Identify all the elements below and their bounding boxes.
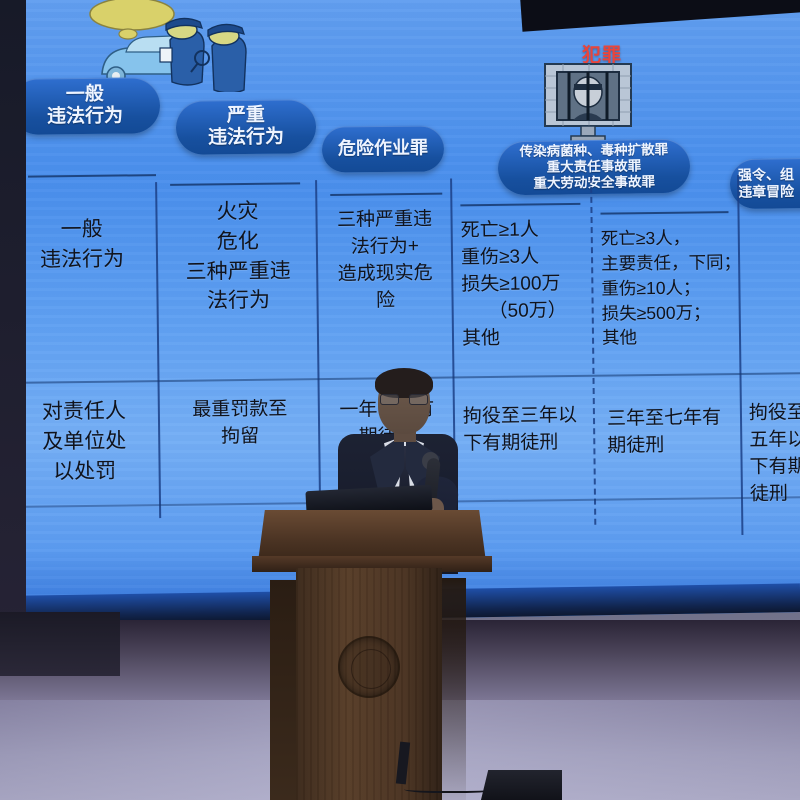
conference-photo: 犯罪 一般 违法行为 严重 违法行为 xyxy=(0,0,800,800)
prisoner-behind-bars-illustration xyxy=(543,62,633,144)
cell-line: 主要责任，下同； xyxy=(601,250,741,277)
table-cell-r2c2: 最重罚款至 拘留 xyxy=(165,396,316,452)
cell-line: 造成现实危 xyxy=(321,260,449,289)
cell-line: 危化 xyxy=(163,226,313,258)
table-rule xyxy=(170,182,300,186)
table-cell-r1c2: 火灾 危化 三种严重违 法行为 xyxy=(162,196,313,317)
cell-line: 三种严重违 xyxy=(320,207,448,236)
table-cell-r1c4: 死亡≥1人 重伤≥3人 损失≥100万 （50万） 其他 xyxy=(461,217,595,353)
pill-line: 严重 xyxy=(227,104,265,127)
podium-right-side xyxy=(440,578,466,800)
cell-line: 对责任人 xyxy=(11,396,157,428)
table-rule xyxy=(600,211,728,215)
pill-line: 违法行为 xyxy=(208,127,284,150)
table-cell-r1c5: 死亡≥3人， 主要责任，下同； 重伤≥10人； 损失≥500万； 其他 xyxy=(601,225,743,351)
pill-dangerous-operation-crime[interactable]: 危险作业罪 xyxy=(322,125,444,172)
cell-line: 一般 xyxy=(8,214,154,246)
left-wall xyxy=(0,0,26,640)
audio-cable xyxy=(404,784,496,793)
cell-line: 法行为 xyxy=(163,286,313,318)
cell-line: （50万） xyxy=(462,298,594,327)
pill-line: 传染病菌种、毒种扩散罪 xyxy=(519,142,668,160)
cell-line: 重伤≥3人 xyxy=(461,244,593,273)
pill-general-illegal-act[interactable]: 一般 违法行为 xyxy=(10,77,161,135)
cell-line: 最重罚款至 xyxy=(165,396,315,425)
cell-line: 期徒刑 xyxy=(607,432,743,461)
cell-line: 损失≥500万； xyxy=(602,299,742,326)
pill-line: 一般 xyxy=(66,83,104,106)
pill-line: 危险作业罪 xyxy=(338,138,428,160)
floor-monitor-speaker xyxy=(480,770,562,800)
cell-line: 死亡≥3人， xyxy=(601,225,741,252)
pill-serious-illegal-act[interactable]: 严重 违法行为 xyxy=(176,99,317,154)
table-cell-r2c4: 拘役至三年以 下有期徒刑 xyxy=(463,403,596,459)
eyeglasses-icon xyxy=(380,394,428,406)
cell-line: 违法行为 xyxy=(9,244,155,276)
cell-line: 其他 xyxy=(462,325,594,354)
cell-line: 死亡≥1人 xyxy=(461,217,593,246)
cell-line: 下有期 xyxy=(749,454,800,482)
cell-line: 三年至七年有 xyxy=(607,405,743,434)
table-rule xyxy=(460,203,580,206)
podium-seal-emblem xyxy=(338,636,400,698)
table-cell-r1c3: 三种严重违 法行为+ 造成现实危 险 xyxy=(320,207,449,316)
cell-line: 拘留 xyxy=(165,423,315,452)
cell-line: 五年以 xyxy=(749,427,800,455)
stage-left-shadow xyxy=(0,612,120,676)
table-rule xyxy=(330,193,442,196)
cell-line: 及单位处 xyxy=(11,426,157,458)
table-cell-r2c6: 拘役至 五年以 下有期 徒刑 xyxy=(749,400,800,509)
cell-line: 火灾 xyxy=(162,196,312,228)
cell-line: 三种严重违 xyxy=(163,256,313,288)
cell-line: 损失≥100万 xyxy=(461,271,593,300)
table-cell-r1c1: 一般 违法行为 xyxy=(8,214,155,275)
podium-top-surface xyxy=(258,510,486,562)
cell-line: 以处罚 xyxy=(11,456,157,488)
cell-line: 徒刑 xyxy=(750,481,800,509)
table-rule xyxy=(28,174,156,178)
cell-line: 下有期徒刑 xyxy=(463,430,595,459)
cell-line: 重伤≥10人； xyxy=(601,275,741,302)
table-cell-r2c5: 三年至七年有 期徒刑 xyxy=(607,405,744,461)
cell-line: 拘役至三年以 xyxy=(463,403,595,432)
cell-line: 其他 xyxy=(602,324,742,351)
cell-line: 拘役至 xyxy=(749,400,800,428)
pill-line: 违法行为 xyxy=(47,106,123,129)
cell-line: 险 xyxy=(321,287,449,316)
cell-line: 法行为+ xyxy=(321,233,449,262)
podium-left-side xyxy=(270,580,298,800)
table-cell-r2c1: 对责任人 及单位处 以处罚 xyxy=(11,396,158,487)
